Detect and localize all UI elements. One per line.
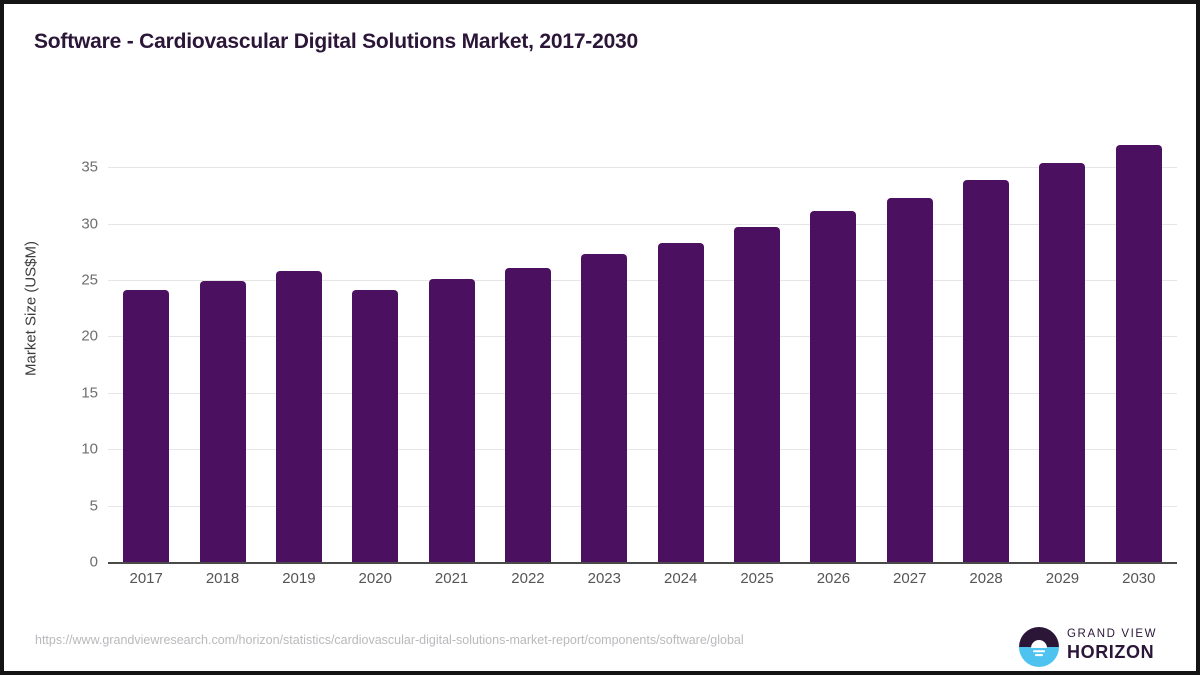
source-url[interactable]: https://www.grandviewresearch.com/horizo… [35,633,935,648]
horizon-sun-icon [1019,627,1059,667]
bar-2025[interactable] [734,227,780,562]
x-axis-tick-label: 2018 [184,570,260,587]
bar-slot [643,139,719,562]
bar-slot [948,139,1024,562]
y-axis-tick-label: 30 [52,215,98,232]
y-axis-tick-label: 5 [52,497,98,514]
bar-slot [1024,139,1100,562]
bar-2027[interactable] [887,198,933,562]
brand-logo-line2: HORIZON [1067,642,1157,663]
x-axis-tick-label: 2019 [261,570,337,587]
x-axis-tick-label: 2022 [490,570,566,587]
x-axis-tick-label: 2028 [948,570,1024,587]
x-axis-tick-label: 2020 [337,570,413,587]
brand-logo[interactable]: GRAND VIEW HORIZON [1019,625,1179,669]
x-axis-tick-label: 2023 [566,570,642,587]
y-axis-tick-label: 25 [52,272,98,289]
y-axis-tick-label: 10 [52,441,98,458]
bar-slot [1101,139,1177,562]
y-axis-tick-label: 0 [52,554,98,571]
bar-2019[interactable] [276,271,322,562]
x-axis-tick-label: 2027 [872,570,948,587]
x-axis-tick-label: 2030 [1101,570,1177,587]
bar-2030[interactable] [1116,145,1162,562]
bar-slot [719,139,795,562]
bar-2022[interactable] [505,268,551,562]
bar-2020[interactable] [352,290,398,562]
x-axis-line [108,562,1177,564]
bar-2017[interactable] [123,290,169,562]
bar-2018[interactable] [200,281,246,562]
chart-page: Software - Cardiovascular Digital Soluti… [0,0,1200,675]
y-axis-tick-label: 20 [52,328,98,345]
bar-slot [795,139,871,562]
x-axis-tick-label: 2025 [719,570,795,587]
bar-slot [337,139,413,562]
bar-2026[interactable] [810,211,856,562]
x-axis-tick-label: 2026 [795,570,871,587]
bar-slot [413,139,489,562]
bar-slot [261,139,337,562]
bar-slot [566,139,642,562]
bar-slot [108,139,184,562]
x-axis-tick-label: 2021 [413,570,489,587]
bar-2028[interactable] [963,180,1009,562]
bar-slot [184,139,260,562]
y-axis-title: Market Size (US$M) [23,139,40,479]
bar-series [108,139,1177,562]
bar-2024[interactable] [658,243,704,562]
bar-slot [490,139,566,562]
page-title: Software - Cardiovascular Digital Soluti… [34,30,638,54]
brand-logo-line1: GRAND VIEW [1067,627,1157,642]
bar-2023[interactable] [581,254,627,562]
x-axis-tick-label: 2017 [108,570,184,587]
y-axis-tick-label: 35 [52,159,98,176]
y-axis-tick-labels: 05101520253035 [52,4,98,675]
bar-2021[interactable] [429,279,475,562]
x-axis-tick-label: 2024 [643,570,719,587]
x-axis-tick-label: 2029 [1024,570,1100,587]
brand-logo-text: GRAND VIEW HORIZON [1067,627,1157,663]
chart-canvas: Software - Cardiovascular Digital Soluti… [4,4,1200,675]
y-axis-tick-label: 15 [52,384,98,401]
bar-2029[interactable] [1039,163,1085,562]
bar-slot [872,139,948,562]
x-axis-tick-labels: 2017201820192020202120222023202420252026… [108,570,1177,598]
